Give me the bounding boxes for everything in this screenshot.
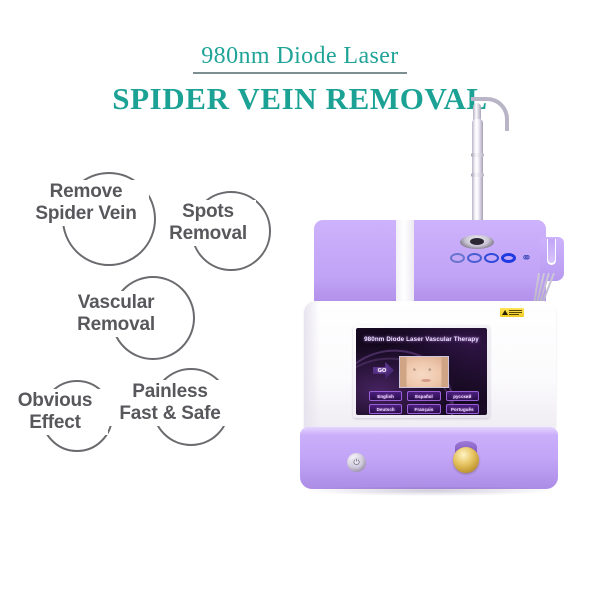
laser-aperture-icon: ⚭ — [520, 250, 533, 265]
handpiece-port-hole — [470, 238, 484, 245]
laser-hazard-label — [500, 308, 524, 317]
bubble-label: Vascular Removal — [58, 291, 174, 337]
front-panel-shading — [304, 301, 320, 431]
warning-text-lines — [509, 310, 522, 315]
base-highlight — [300, 427, 558, 435]
warning-triangle-icon — [502, 310, 508, 315]
top-panel-seam — [396, 220, 414, 305]
bubble-label: Spots Removal — [160, 200, 256, 246]
go-button-label: GO — [378, 368, 387, 374]
product-promo-image: 980nm Diode Laser SPIDER VEIN REMOVAL Re… — [0, 0, 600, 600]
model-face-photo — [399, 356, 449, 388]
screen-bezel: 980nm Diode Laser Vascular Therapy GO En… — [353, 325, 490, 418]
heading-block: 980nm Diode Laser SPIDER VEIN REMOVAL — [0, 44, 600, 116]
device-shadow — [306, 487, 554, 496]
page-subtitle: 980nm Diode Laser — [193, 44, 406, 74]
bubble-label: Remove Spider Vein — [23, 180, 149, 226]
language-button-portugues[interactable]: Português — [446, 404, 479, 414]
led-indicator-2 — [467, 253, 482, 263]
language-button-english[interactable]: English — [369, 391, 402, 401]
led-indicator-4 — [501, 253, 516, 263]
touchscreen-display[interactable]: 980nm Diode Laser Vascular Therapy GO En… — [356, 328, 487, 415]
wand-ring-lower — [471, 173, 484, 177]
language-button-russian[interactable]: русский — [446, 391, 479, 401]
laser-machine: ⚭ 980nm Diode Laser Vascular Therapy — [300, 215, 560, 515]
language-button-espanol[interactable]: Español — [407, 391, 440, 401]
screen-title: 980nm Diode Laser Vascular Therapy — [356, 336, 487, 343]
led-indicator-3 — [484, 253, 499, 263]
language-button-francais[interactable]: Français — [407, 404, 440, 414]
language-button-deutsch[interactable]: Deutsch — [369, 404, 402, 414]
language-selector[interactable]: English Español русский Deutsch Français… — [369, 391, 479, 414]
power-button[interactable]: ⏻ — [347, 453, 366, 472]
key-switch-knob[interactable] — [453, 447, 479, 473]
led-indicator-1 — [450, 253, 465, 263]
page-title: SPIDER VEIN REMOVAL — [0, 83, 600, 116]
power-level-indicators: ⚭ — [450, 251, 534, 267]
cradle-notch-inner — [548, 239, 555, 263]
bubble-label: Obvious Effect — [2, 389, 108, 435]
power-icon: ⏻ — [351, 457, 363, 469]
face-hair — [400, 357, 448, 387]
device-base-panel — [300, 427, 558, 489]
bubble-label: Painless Fast & Safe — [108, 380, 232, 426]
wand-ring-upper — [471, 153, 484, 157]
